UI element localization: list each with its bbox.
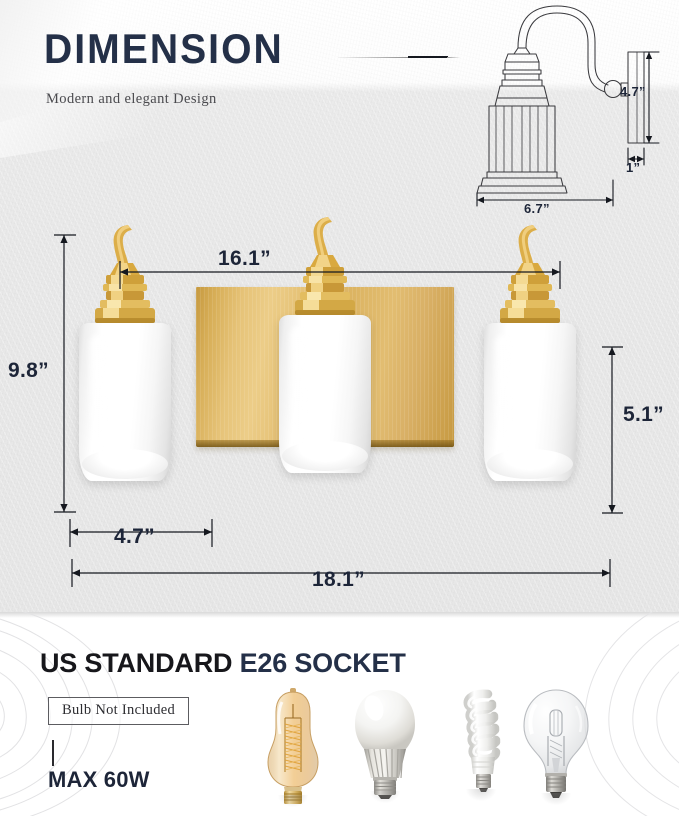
page-subtitle: Modern and elegant Design [46, 91, 217, 108]
title-decorative-rule [338, 56, 460, 59]
bulb-reflection [370, 791, 400, 803]
side-view-width-label: 6.7” [524, 201, 550, 216]
tick-mark-divider [52, 740, 54, 766]
rule-fade-segment [338, 57, 410, 58]
mount-spread-label: 16.1” [218, 247, 271, 271]
led-bulb [352, 688, 418, 800]
shade-width-label: 4.7” [114, 525, 155, 549]
rule-solid-segment [408, 56, 448, 58]
overall-width-label: 18.1” [312, 568, 365, 592]
halogen-bulb [520, 688, 592, 802]
socket-title-e26: E26 SOCKET [240, 648, 406, 678]
product-dimension-panel: DIMENSION Modern and elegant Design [0, 0, 679, 612]
side-view-depth-label: 1” [626, 160, 640, 175]
bulb-reflection [466, 789, 496, 801]
socket-title-standard: US STANDARD [40, 648, 240, 678]
dimension-infographic: DIMENSION Modern and elegant Design [0, 0, 679, 816]
page-title: DIMENSION [44, 28, 284, 70]
side-view-height-label: 4.7” [620, 84, 646, 99]
edison-filament-bulb [262, 688, 324, 804]
product-photo: 9.8” 16.1” 5.1” 4.7” 18.1” [0, 215, 679, 610]
socket-title: US STANDARD E26 SOCKET [40, 648, 406, 679]
bulb-reflection [541, 793, 571, 805]
overall-height-label: 9.8” [8, 359, 49, 383]
side-view-diagram: 4.7” 1” 6.7” [452, 0, 679, 225]
bulb-reflection [278, 795, 308, 807]
cfl-spiral-bulb [452, 688, 510, 798]
socket-info-panel: US STANDARD E26 SOCKET Bulb Not Included… [0, 612, 679, 816]
extension-depth-label: 5.1” [623, 403, 664, 427]
max-wattage-label: MAX 60W [48, 767, 150, 793]
section-divider [0, 612, 679, 618]
bulb-not-included-badge: Bulb Not Included [48, 697, 189, 725]
